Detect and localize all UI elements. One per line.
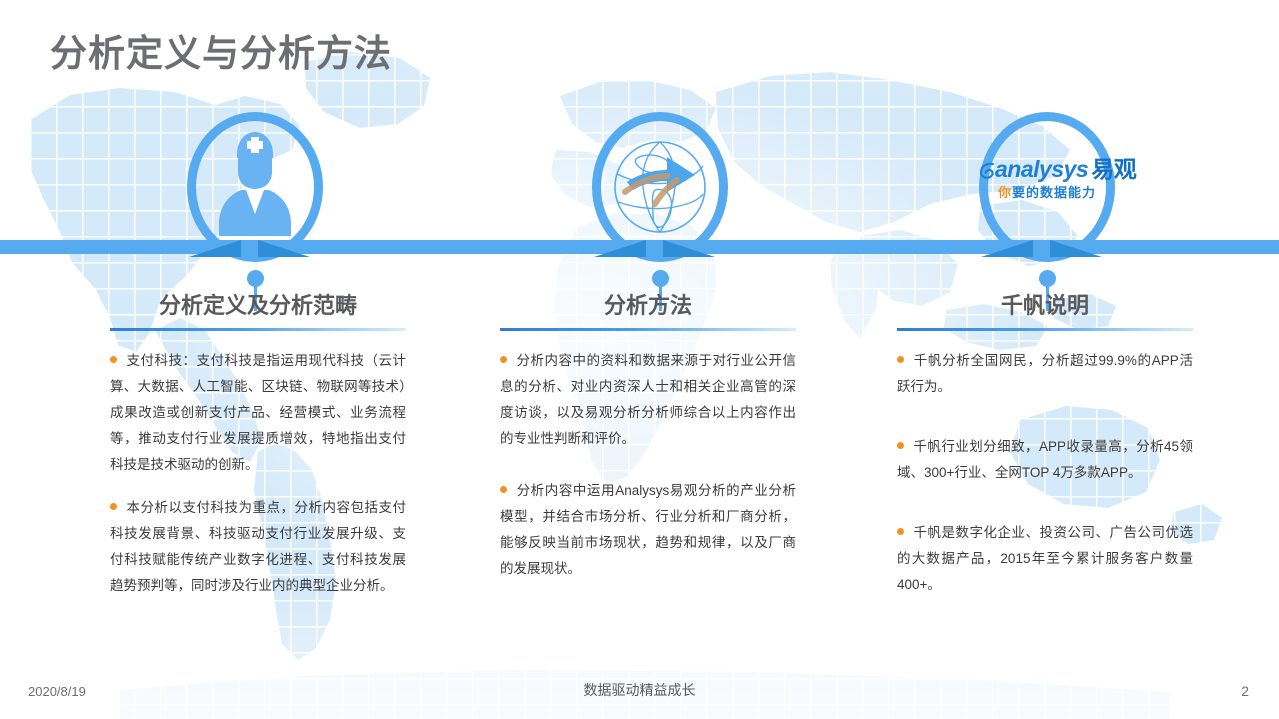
bullet-dot-icon xyxy=(500,486,507,493)
list-item: 分析内容中运用Analysys易观分析的产业分析模型，并结合市场分析、行业分析和… xyxy=(500,478,796,582)
footer-tagline: 数据驱动精益成长 xyxy=(0,680,1279,700)
bullet-text: 千帆行业划分细致，APP收录量高，分析45领域、300+行业、全网TOP 4万多… xyxy=(897,439,1193,480)
column-1-body: 支付科技：支付科技是指运用现代科技（云计算、大数据、人工智能、区块链、物联网等技… xyxy=(110,348,406,599)
page-number: 2 xyxy=(1241,683,1249,699)
bullet-text: 分析内容中的资料和数据来源于对行业公开信息的分析、对业内资深人士和相关企业高管的… xyxy=(500,353,796,446)
column-analysis-method: 分析方法 分析内容中的资料和数据来源于对行业公开信息的分析、对业内资深人士和相关… xyxy=(500,292,796,599)
ring-1-shadow-left xyxy=(189,240,241,257)
ring-3-shadow-right xyxy=(1050,240,1102,257)
column-1-heading: 分析定义及分析范畴 xyxy=(110,292,406,320)
list-item: 千帆是数字化企业、投资公司、广告公司优选的大数据产品，2015年至今累计服务客户… xyxy=(897,520,1193,598)
globe-arrow-icon xyxy=(611,124,709,250)
list-item: 分析内容中的资料和数据来源于对行业公开信息的分析、对业内资深人士和相关企业高管的… xyxy=(500,348,796,452)
bullet-dot-icon xyxy=(500,356,507,363)
column-1-rule xyxy=(110,328,406,331)
bullet-text: 支付科技：支付科技是指运用现代科技（云计算、大数据、人工智能、区块链、物联网等技… xyxy=(110,353,406,472)
column-2-heading: 分析方法 xyxy=(500,292,796,320)
logo-sub-highlight: 你 xyxy=(998,185,1012,200)
column-3-body: 千帆分析全国网民，分析超过99.9%的APP活跃行为。 千帆行业划分细致，APP… xyxy=(897,348,1193,598)
column-2-rule xyxy=(500,328,796,331)
bullet-dot-icon xyxy=(897,356,904,363)
doctor-icon xyxy=(213,128,297,238)
column-3-rule xyxy=(897,328,1193,331)
page-title: 分析定义与分析方法 xyxy=(50,32,392,76)
bullet-dot-icon xyxy=(897,442,904,449)
list-item: 千帆行业划分细致，APP收录量高，分析45领域、300+行业、全网TOP 4万多… xyxy=(897,434,1193,486)
logo-sub-rest: 要的数据能力 xyxy=(1012,185,1096,200)
list-item: 支付科技：支付科技是指运用现代科技（云计算、大数据、人工智能、区块链、物联网等技… xyxy=(110,348,406,478)
list-item: 本分析以支付科技为重点，分析内容包括支付科技发展背景、科技驱动支付行业发展升级、… xyxy=(110,495,406,599)
analysys-logo: analysys易观 你要的数据能力 xyxy=(979,158,1115,199)
bullet-dot-icon xyxy=(110,503,117,510)
logo-main-cn: 易观 xyxy=(1091,156,1136,182)
bullet-text: 千帆是数字化企业、投资公司、广告公司优选的大数据产品，2015年至今累计服务客户… xyxy=(897,525,1193,592)
list-item: 千帆分析全国网民，分析超过99.9%的APP活跃行为。 xyxy=(897,348,1193,400)
column-2-body: 分析内容中的资料和数据来源于对行业公开信息的分析、对业内资深人士和相关企业高管的… xyxy=(500,348,796,582)
ring-1-shadow-right xyxy=(258,240,310,257)
column-3-heading: 千帆说明 xyxy=(897,292,1193,320)
ring-3-shadow-left xyxy=(981,240,1033,257)
bullet-dot-icon xyxy=(897,528,904,535)
column-analysis-definition: 分析定义及分析范畴 支付科技：支付科技是指运用现代科技（云计算、大数据、人工智能… xyxy=(110,292,406,616)
logo-main-text: analysys xyxy=(995,156,1088,182)
slide-root: 分析定义与分析方法 xyxy=(0,0,1279,719)
bullet-dot-icon xyxy=(110,356,117,363)
column-qianfan-description: 千帆说明 千帆分析全国网民，分析超过99.9%的APP活跃行为。 千帆行业划分细… xyxy=(897,292,1193,615)
bullet-text: 分析内容中运用Analysys易观分析的产业分析模型，并结合市场分析、行业分析和… xyxy=(500,483,796,576)
bullet-text: 本分析以支付科技为重点，分析内容包括支付科技发展背景、科技驱动支付行业发展升级、… xyxy=(110,500,406,593)
bullet-text: 千帆分析全国网民，分析超过99.9%的APP活跃行为。 xyxy=(897,353,1193,394)
analysys-mark-icon xyxy=(979,162,995,180)
